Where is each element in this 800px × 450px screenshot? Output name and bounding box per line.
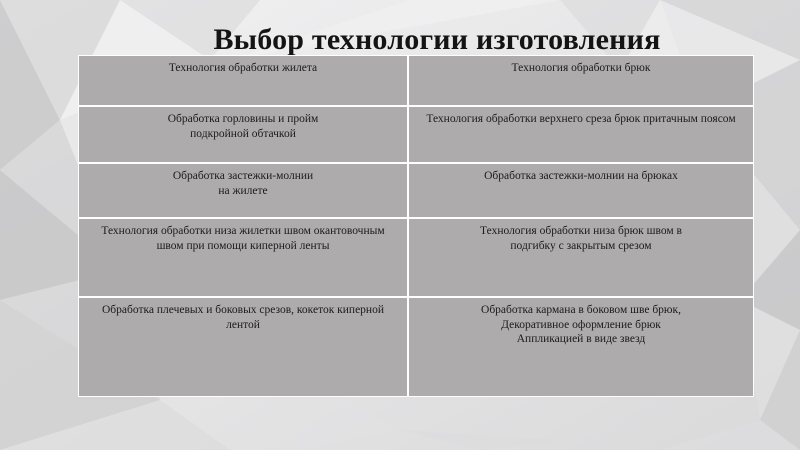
presentation-slide: Выбор технологии изготовления Технология… xyxy=(0,0,800,450)
table-row: Технология обработки низа жилетки швом о… xyxy=(78,218,754,297)
cell-text: Обработка застежки-молнии на брюках xyxy=(416,169,746,184)
cell-text: Технология обработки низа брюк швом в по… xyxy=(416,224,746,253)
cell-text: Обработка кармана в боковом шве брюк, Де… xyxy=(416,303,746,347)
table-cell-vest: Обработка плечевых и боковых срезов, кок… xyxy=(78,297,408,397)
table-cell-trousers: Обработка кармана в боковом шве брюк, Де… xyxy=(408,297,754,397)
table-cell-trousers: Технология обработки брюк xyxy=(408,55,754,106)
table-body: Технология обработки жилета Технология о… xyxy=(78,55,754,397)
technology-comparison-table: Технология обработки жилета Технология о… xyxy=(78,55,754,397)
table-cell-trousers: Обработка застежки-молнии на брюках xyxy=(408,163,754,218)
cell-text: Обработка плечевых и боковых срезов, кок… xyxy=(86,303,400,332)
cell-text: Обработка застежки-молнии на жилете xyxy=(86,169,400,198)
table-cell-trousers: Технология обработки низа брюк швом в по… xyxy=(408,218,754,297)
table-cell-trousers: Технология обработки верхнего среза брюк… xyxy=(408,106,754,163)
cell-text: Технология обработки верхнего среза брюк… xyxy=(416,112,746,127)
table-cell-vest: Обработка застежки-молнии на жилете xyxy=(78,163,408,218)
table-cell-vest: Обработка горловины и пройм подкройной о… xyxy=(78,106,408,163)
cell-text: Технология обработки жилета xyxy=(86,61,400,76)
cell-text: Технология обработки брюк xyxy=(416,61,746,76)
cell-text: Технология обработки низа жилетки швом о… xyxy=(86,224,400,253)
slide-title: Выбор технологии изготовления xyxy=(0,21,800,59)
table-row: Обработка горловины и пройм подкройной о… xyxy=(78,106,754,163)
table-cell-vest: Технология обработки жилета xyxy=(78,55,408,106)
table-row: Обработка плечевых и боковых срезов, кок… xyxy=(78,297,754,397)
table-row: Технология обработки жилета Технология о… xyxy=(78,55,754,106)
cell-text: Обработка горловины и пройм подкройной о… xyxy=(86,112,400,141)
table-row: Обработка застежки-молнии на жилете Обра… xyxy=(78,163,754,218)
table-cell-vest: Технология обработки низа жилетки швом о… xyxy=(78,218,408,297)
